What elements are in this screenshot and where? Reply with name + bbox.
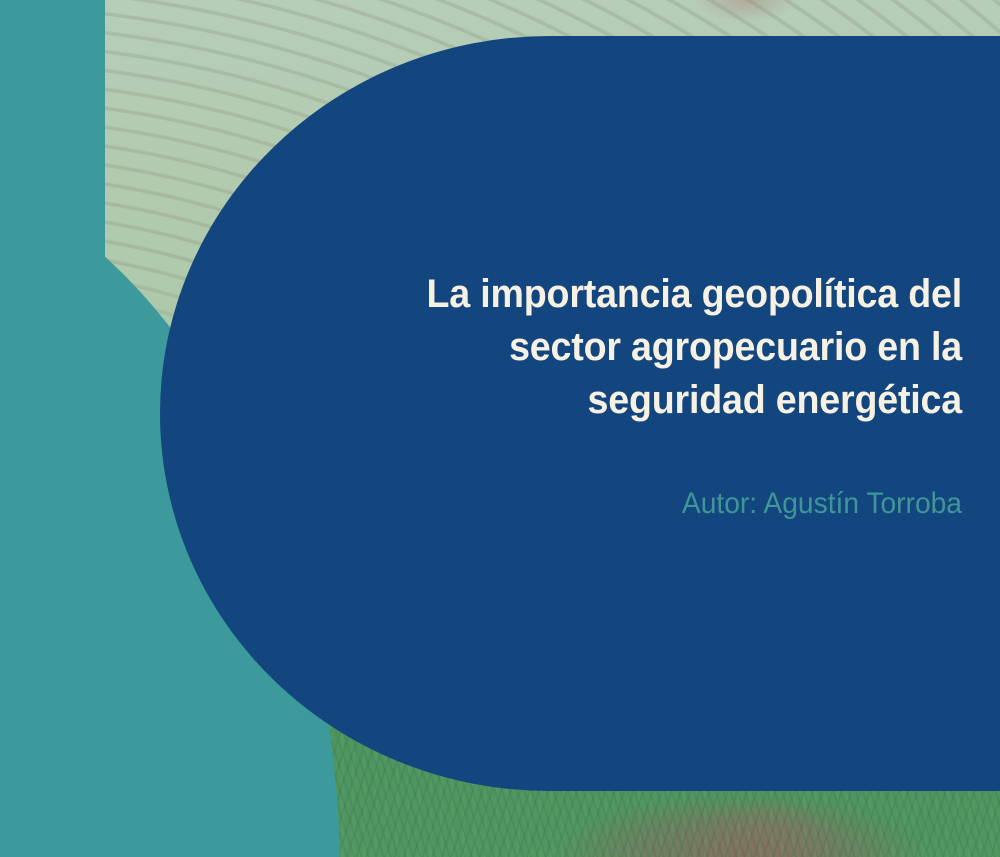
page-title-line-3: seguridad energética (379, 374, 962, 427)
page-title-line-1: La importancia geopolítica del (379, 268, 962, 321)
page-title: La importancia geopolítica del sector ag… (379, 268, 962, 427)
author-byline: Autor: Agustín Torroba (379, 427, 962, 521)
report-cover: La importancia geopolítica del sector ag… (0, 0, 1000, 857)
page-title-line-2: sector agropecuario en la (379, 321, 962, 374)
cover-text-block: La importancia geopolítica del sector ag… (342, 268, 962, 521)
